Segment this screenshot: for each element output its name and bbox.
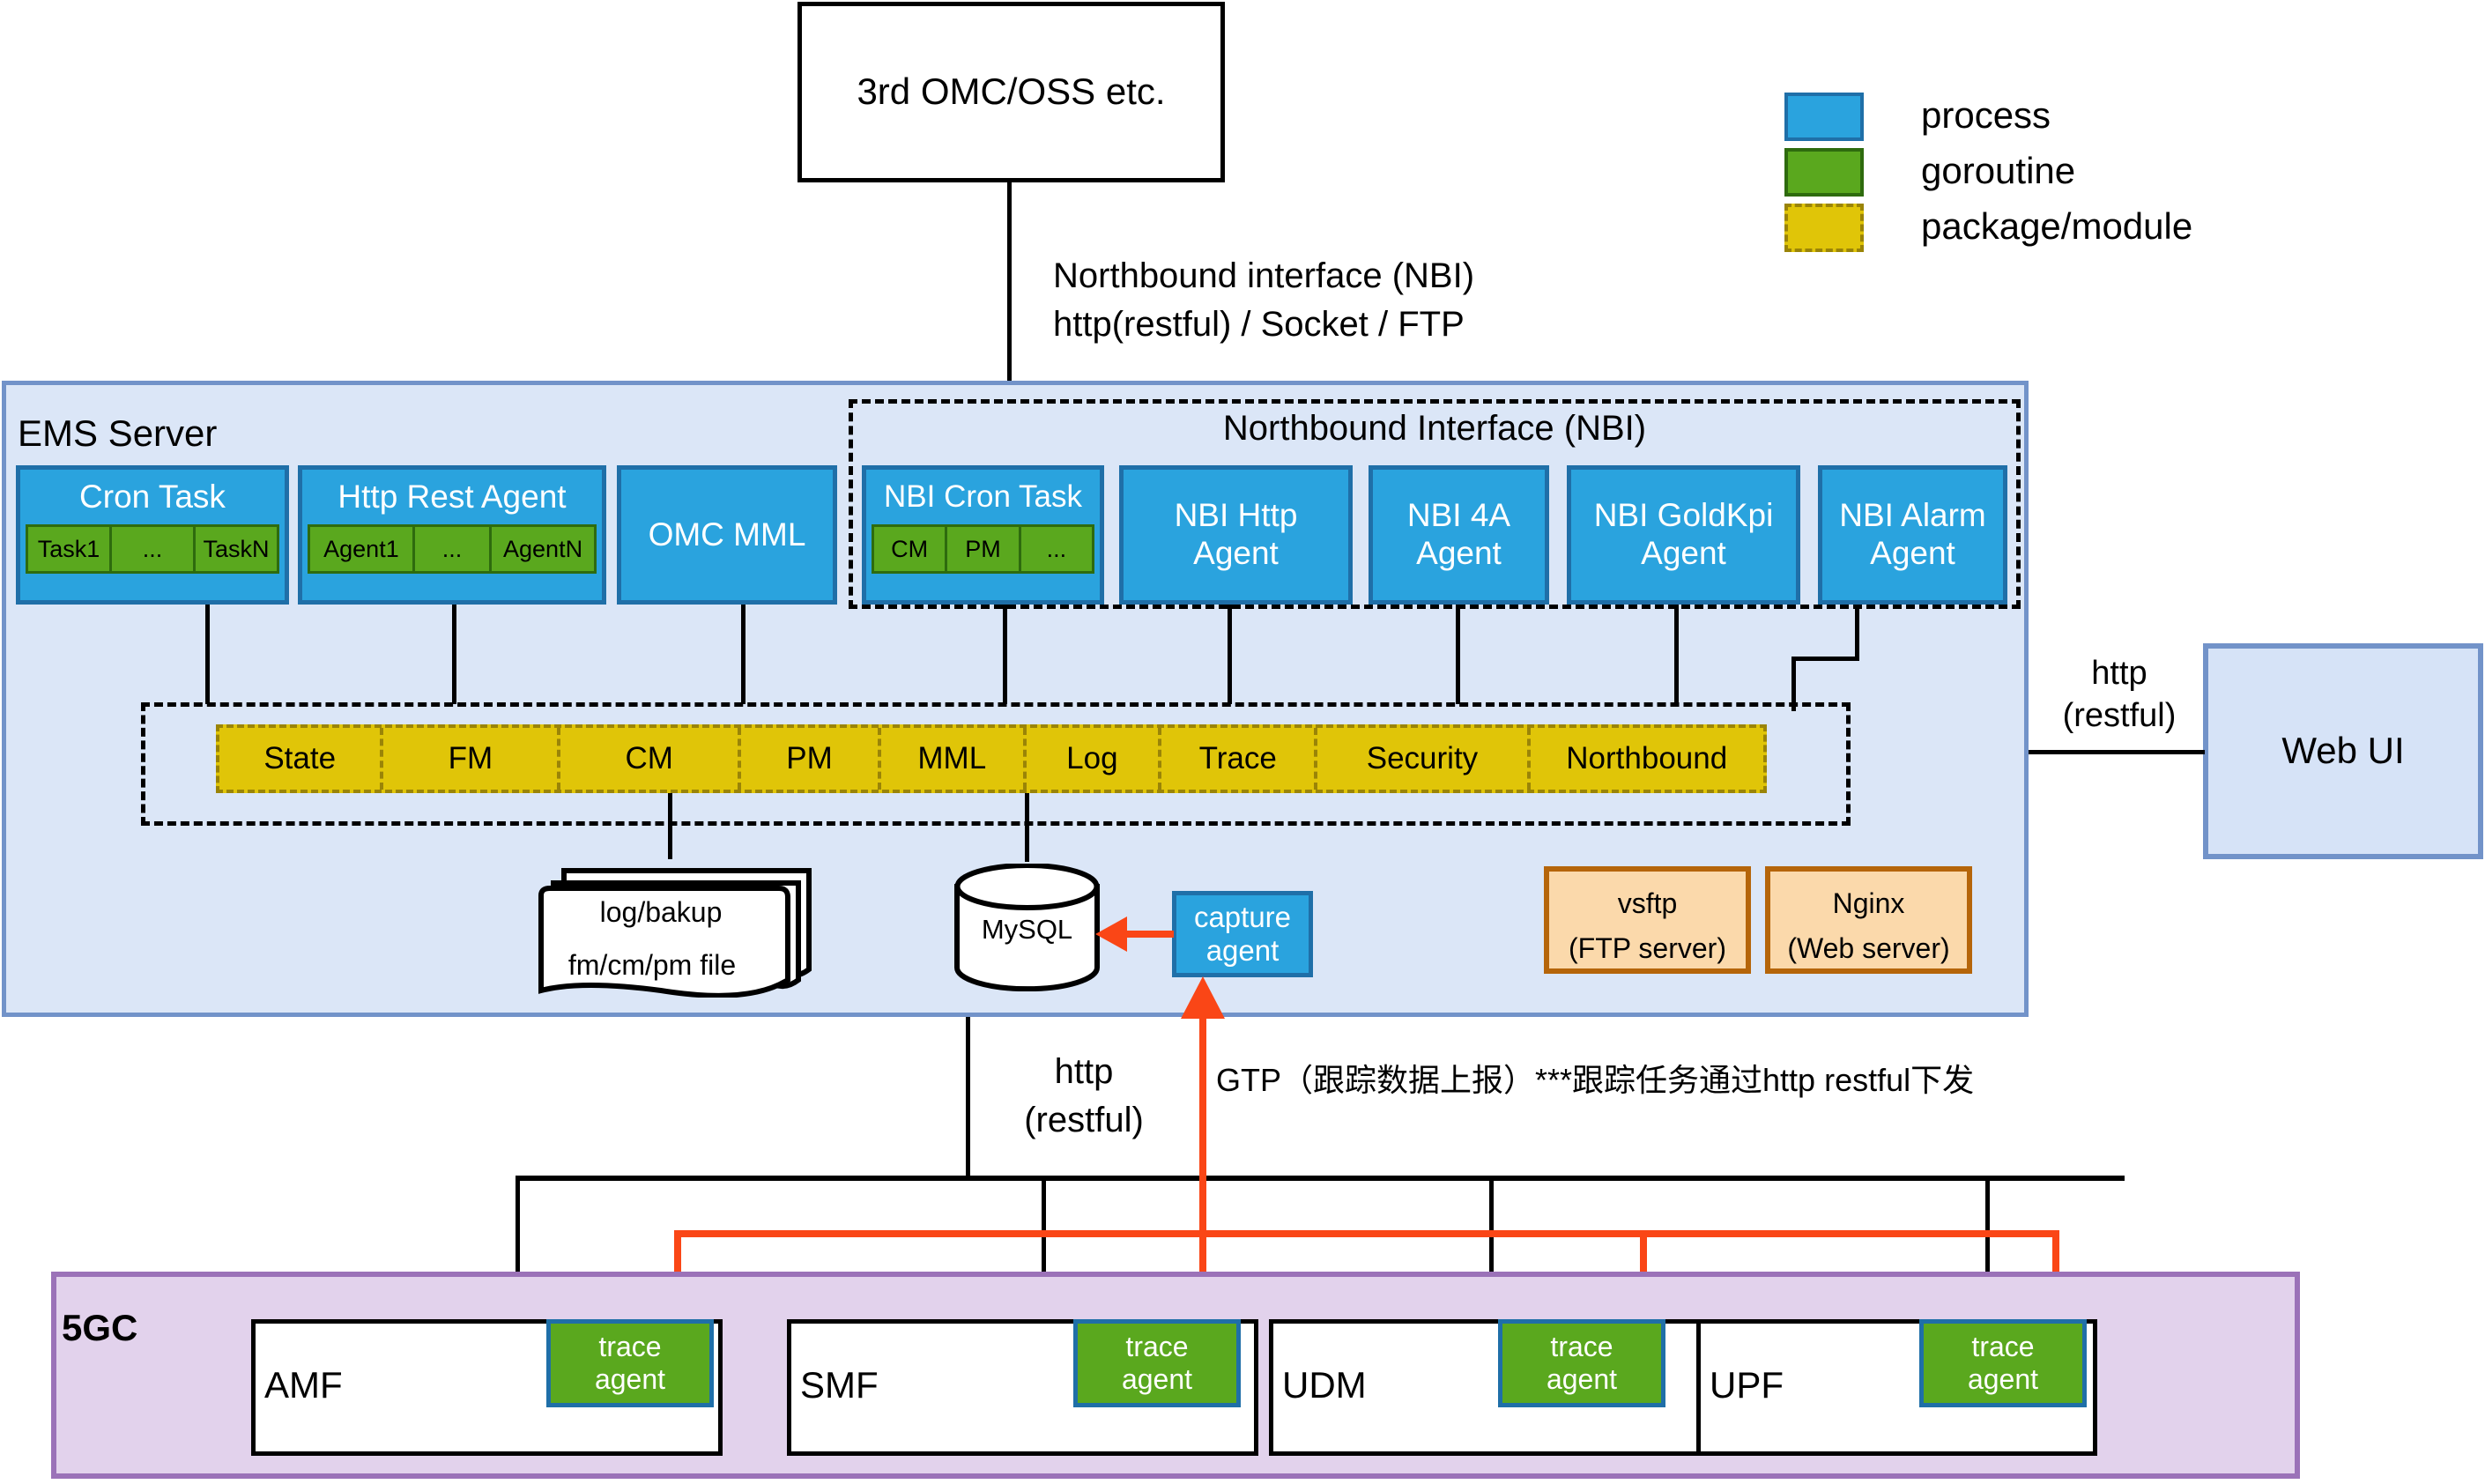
process-cron-task[interactable]: Cron Task Task1 ... TaskN [16, 465, 289, 605]
trace-agent-smf[interactable]: trace agent [1073, 1319, 1241, 1407]
webui-link-label-line2: (restful) [2036, 699, 2203, 734]
goroutine-nbi-ellipsis: ... [1021, 524, 1094, 574]
module-security[interactable]: Security [1317, 728, 1530, 790]
connector-nbi-http-agent [1228, 605, 1232, 704]
legend-label-goroutine: goroutine [1921, 150, 2075, 192]
connector-module-to-mysql [1025, 793, 1029, 862]
goroutine-cm[interactable]: CM [872, 524, 947, 574]
goroutine-task1[interactable]: Task1 [26, 524, 112, 574]
connector-omc-mml [741, 605, 745, 704]
connector-nbi-goldkpi-agent [1674, 605, 1679, 704]
trace-agent-smf-label: trace agent [1122, 1331, 1192, 1396]
process-cron-task-label: Cron Task [20, 470, 285, 524]
vsftp-label-line2: (FTP server) [1549, 928, 1746, 968]
process-omc-mml-label: OMC MML [649, 516, 806, 554]
goroutine-taskn[interactable]: TaskN [196, 524, 279, 574]
nbi-link-label-line1: Northbound interface (NBI) [1053, 256, 1474, 296]
process-nbi-cron-task[interactable]: NBI Cron Task CM PM ... [862, 465, 1104, 605]
nf-udm-label: UDM [1282, 1364, 1367, 1406]
legend-swatch-goroutine [1784, 148, 1864, 197]
process-nbi-4a-agent-label: NBI 4A Agent [1407, 497, 1510, 572]
goroutine-task-ellipsis: ... [112, 524, 196, 574]
external-omc-oss-box: 3rd OMC/OSS etc. [797, 2, 1225, 182]
fivegc-title: 5GC [62, 1307, 137, 1349]
external-omc-oss-label: 3rd OMC/OSS etc. [857, 70, 1165, 113]
nf-upf-label: UPF [1710, 1364, 1784, 1406]
process-nbi-alarm-agent-label: NBI Alarm Agent [1839, 497, 1986, 572]
trace-agent-amf-label: trace agent [595, 1331, 665, 1396]
connector-nbi-4a-agent [1456, 605, 1460, 704]
connector-cron-task [205, 605, 210, 704]
module-cm[interactable]: CM [560, 728, 741, 790]
arrow-gtp-to-capture-head [1181, 976, 1225, 1019]
nginx-label-line2: (Web server) [1770, 928, 1967, 968]
process-nbi-alarm-agent[interactable]: NBI Alarm Agent [1818, 465, 2007, 605]
process-nbi-4a-agent[interactable]: NBI 4A Agent [1369, 465, 1549, 605]
nbi-link-label-line2: http(restful) / Socket / FTP [1053, 304, 1465, 345]
process-nbi-goldkpi-agent[interactable]: NBI GoldKpi Agent [1567, 465, 1800, 605]
vsftp-label-line1: vsftp [1549, 872, 1746, 928]
trace-agent-udm[interactable]: trace agent [1498, 1319, 1665, 1407]
orange-riser-to-capture [1199, 1013, 1206, 1234]
module-bar: State FM CM PM MML Log Trace Security No… [216, 724, 1767, 793]
goroutine-pm[interactable]: PM [947, 524, 1020, 574]
south-http-label-line2: (restful) [996, 1102, 1172, 1139]
trace-agent-upf-label: trace agent [1968, 1331, 2038, 1396]
nbi-group-title: Northbound Interface (NBI) [849, 407, 2021, 449]
connector-ems-south-trunk [966, 1017, 970, 1180]
mysql-label: MySQL [950, 916, 1104, 943]
connector-ems-to-webui [2029, 750, 2205, 754]
webui-link-label-line1: http [2036, 657, 2203, 692]
file-store-label-line2: fm/cm/pm file [529, 950, 775, 980]
connector-nbi-alarm-agent-seg1 [1855, 605, 1859, 661]
process-nbi-http-agent[interactable]: NBI Http Agent [1119, 465, 1353, 605]
legend-swatch-package-module [1784, 204, 1864, 252]
south-http-label-line1: http [996, 1053, 1172, 1090]
module-pm[interactable]: PM [741, 728, 881, 790]
legend: process goroutine package/module [1784, 93, 2313, 330]
process-nbi-http-agent-label: NBI Http Agent [1175, 497, 1298, 572]
process-omc-mml[interactable]: OMC MML [617, 465, 837, 605]
nginx-label-line1: Nginx [1770, 872, 1967, 928]
process-http-rest-agent[interactable]: Http Rest Agent Agent1 ... AgentN [298, 465, 606, 605]
goroutine-agent-ellipsis: ... [415, 524, 492, 574]
legend-swatch-process [1784, 93, 1864, 141]
nf-smf-label: SMF [800, 1364, 879, 1406]
ems-server-title: EMS Server [18, 412, 217, 455]
nf-amf-label: AMF [264, 1364, 343, 1406]
server-nginx[interactable]: Nginx (Web server) [1765, 866, 1972, 974]
orange-bus-horizontal [674, 1230, 2059, 1237]
server-vsftp[interactable]: vsftp (FTP server) [1544, 866, 1751, 974]
file-store-label-line1: log/bakup [538, 897, 784, 927]
process-nbi-goldkpi-agent-label: NBI GoldKpi Agent [1594, 497, 1774, 572]
legend-label-package-module: package/module [1921, 205, 2192, 248]
legend-label-process: process [1921, 94, 2051, 137]
goroutine-agent1[interactable]: Agent1 [308, 524, 415, 574]
module-state[interactable]: State [219, 728, 383, 790]
trace-agent-udm-label: trace agent [1547, 1331, 1617, 1396]
module-log[interactable]: Log [1027, 728, 1162, 790]
arrow-capture-to-mysql-shaft [1121, 931, 1174, 938]
module-mml[interactable]: MML [881, 728, 1027, 790]
arrow-capture-to-mysql-head [1095, 916, 1127, 952]
trace-agent-amf[interactable]: trace agent [546, 1319, 714, 1407]
module-trace[interactable]: Trace [1161, 728, 1317, 790]
module-fm[interactable]: FM [383, 728, 560, 790]
connector-nbi-cron-task [1003, 605, 1007, 704]
connector-nbi-alarm-agent-seg2 [1791, 657, 1859, 661]
process-nbi-cron-task-label: NBI Cron Task [866, 470, 1100, 524]
connector-omcoss-to-nbi [1007, 182, 1012, 396]
south-bus-horizontal [516, 1176, 2125, 1181]
connector-http-rest-agent [452, 605, 456, 704]
process-http-rest-agent-label: Http Rest Agent [302, 470, 602, 524]
goroutine-agentn[interactable]: AgentN [492, 524, 597, 574]
module-northbound[interactable]: Northbound [1531, 728, 1763, 790]
trace-agent-upf[interactable]: trace agent [1919, 1319, 2087, 1407]
gtp-note-label: GTP（跟踪数据上报）***跟踪任务通过http restful下发 [1216, 1062, 1974, 1098]
capture-agent-label: capture agent [1194, 901, 1291, 968]
process-capture-agent[interactable]: capture agent [1172, 891, 1313, 977]
connector-module-to-filestore [668, 793, 672, 859]
web-ui-label: Web UI [2281, 730, 2404, 772]
web-ui-box[interactable]: Web UI [2203, 643, 2483, 859]
